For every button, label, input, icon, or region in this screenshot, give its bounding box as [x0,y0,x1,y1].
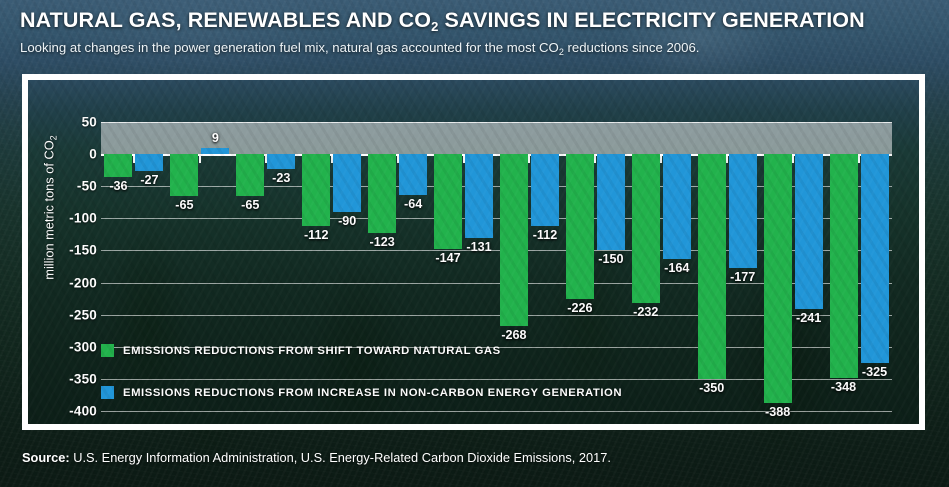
legend-swatch-non-carbon [101,386,114,399]
value-label-2008-non-carbon: -23 [256,171,306,185]
value-label-2013-natural-gas: -226 [555,301,605,315]
x-tick-mark-2010 [397,154,399,163]
bar-2006-non-carbon[interactable] [135,154,163,171]
chart-plot-area: 500-50-100-150-200-250-300-350-400 milli… [28,80,919,424]
x-tick-mark-2007 [199,154,201,163]
page-title-text-end: SAVINGS IN ELECTRICITY GENERATION [438,8,864,32]
value-label-2010-natural-gas: -123 [357,235,407,249]
x-tick-mark-2009 [331,154,333,163]
header: NATURAL GAS, RENEWABLES AND CO2 SAVINGS … [20,8,930,55]
legend-item-non-carbon[interactable]: EMISSIONS REDUCTIONS FROM INCREASE IN NO… [101,386,622,399]
gridline-0 [101,154,892,156]
bar-2016-natural-gas[interactable] [764,154,792,403]
page-title-subscript: 2 [431,19,438,34]
x-tick-mark-2014 [660,154,662,163]
value-label-2007-natural-gas: -65 [159,198,209,212]
y-tick-label--50: -50 [31,179,97,194]
y-axis-title-text: million metric tons of CO [42,140,57,279]
gridline--250 [101,315,892,316]
legend-label-non-carbon: EMISSIONS REDUCTIONS FROM INCREASE IN NO… [123,387,622,399]
chart-frame: 500-50-100-150-200-250-300-350-400 milli… [22,74,925,430]
value-label-2015-natural-gas: -350 [687,381,737,395]
bar-2016-non-carbon[interactable] [795,154,823,309]
source-label: Source: [22,450,70,465]
bar-2015-non-carbon[interactable] [729,154,757,268]
value-label-2012-non-carbon: -112 [520,228,570,242]
gridline--300 [101,347,892,348]
gridline--200 [101,283,892,284]
x-tick-mark-2017 [858,154,860,163]
y-tick-label--250: -250 [31,307,97,322]
bar-2009-non-carbon[interactable] [333,154,361,212]
page-subtitle-subscript: 2 [559,47,564,57]
page-subtitle: Looking at changes in the power generati… [20,40,930,55]
value-label-2009-non-carbon: -90 [322,214,372,228]
value-label-2006-natural-gas: -36 [93,179,143,193]
gridline--150 [101,250,892,251]
bar-2015-natural-gas[interactable] [698,154,726,379]
bar-2011-natural-gas[interactable] [434,154,462,248]
y-tick-label--400: -400 [31,404,97,419]
value-label-2011-natural-gas: -147 [423,251,473,265]
value-label-2013-non-carbon: -150 [586,252,636,266]
source-note: Source: U.S. Energy Information Administ… [22,450,611,465]
legend-swatch-natural-gas [101,344,114,357]
bar-2017-natural-gas[interactable] [830,154,858,377]
bar-2012-natural-gas[interactable] [500,154,528,326]
value-label-2014-natural-gas: -232 [621,305,671,319]
value-label-2016-non-carbon: -241 [784,311,834,325]
bar-2008-non-carbon[interactable] [267,154,295,169]
value-label-2012-natural-gas: -268 [489,328,539,342]
positive-value-band [101,122,892,154]
y-axis-ticks: 500-50-100-150-200-250-300-350-400 [28,80,97,424]
x-tick-mark-2008 [265,154,267,163]
gridline--350 [101,379,892,380]
y-tick-label--300: -300 [31,339,97,354]
x-tick-mark-2006 [133,154,135,163]
value-label-2008-natural-gas: -65 [225,198,275,212]
value-label-2011-non-carbon: -131 [454,240,504,254]
legend-label-natural-gas: EMISSIONS REDUCTIONS FROM SHIFT TOWARD N… [123,345,501,357]
gridline-50 [101,122,892,123]
bar-2011-non-carbon[interactable] [465,154,493,238]
x-tick-mark-2012 [528,154,530,163]
value-label-2010-non-carbon: -64 [388,197,438,211]
y-tick-label--100: -100 [31,211,97,226]
page-subtitle-text-end: reductions since 2006. [564,40,700,55]
y-tick-label--200: -200 [31,275,97,290]
x-tick-mark-2016 [792,154,794,163]
value-label-2014-non-carbon: -164 [652,261,702,275]
bar-2010-natural-gas[interactable] [368,154,396,233]
value-label-2017-natural-gas: -348 [819,380,869,394]
page-title-text: NATURAL GAS, RENEWABLES AND CO [20,8,431,32]
y-tick-label--350: -350 [31,371,97,386]
value-label-2016-natural-gas: -388 [753,405,803,419]
bar-2006-natural-gas[interactable] [104,154,132,177]
bar-2013-non-carbon[interactable] [597,154,625,250]
gridline--100 [101,218,892,219]
legend-item-natural-gas[interactable]: EMISSIONS REDUCTIONS FROM SHIFT TOWARD N… [101,344,501,357]
x-tick-mark-2015 [726,154,728,163]
bar-2014-natural-gas[interactable] [632,154,660,303]
gridline--50 [101,186,892,187]
bar-2012-non-carbon[interactable] [531,154,559,226]
y-axis-title-subscript: 2 [49,135,59,140]
bar-2010-non-carbon[interactable] [399,154,427,195]
y-tick-label-50: 50 [31,115,97,130]
source-text: U.S. Energy Information Administration, … [70,450,611,465]
x-tick-mark-2011 [463,154,465,163]
bar-2013-natural-gas[interactable] [566,154,594,299]
bar-2009-natural-gas[interactable] [302,154,330,226]
y-tick-label-0: 0 [31,147,97,162]
bar-2007-natural-gas[interactable] [170,154,198,196]
page-title: NATURAL GAS, RENEWABLES AND CO2 SAVINGS … [20,8,930,33]
value-label-2006-non-carbon: -27 [124,173,174,187]
value-label-2017-non-carbon: -325 [850,365,900,379]
value-label-2009-natural-gas: -112 [291,228,341,242]
value-label-2007-non-carbon: 9 [190,131,240,145]
chart-plot-card: 500-50-100-150-200-250-300-350-400 milli… [28,80,919,424]
bar-2017-non-carbon[interactable] [861,154,889,363]
gridline--400 [101,411,892,412]
x-tick-mark-2013 [594,154,596,163]
y-tick-label--150: -150 [31,243,97,258]
bar-2014-non-carbon[interactable] [663,154,691,259]
y-axis-title: million metric tons of CO2 [42,83,57,333]
bar-2008-natural-gas[interactable] [236,154,264,196]
value-label-2015-non-carbon: -177 [718,270,768,284]
bar-2007-non-carbon[interactable] [201,148,229,154]
page-subtitle-text: Looking at changes in the power generati… [20,40,559,55]
